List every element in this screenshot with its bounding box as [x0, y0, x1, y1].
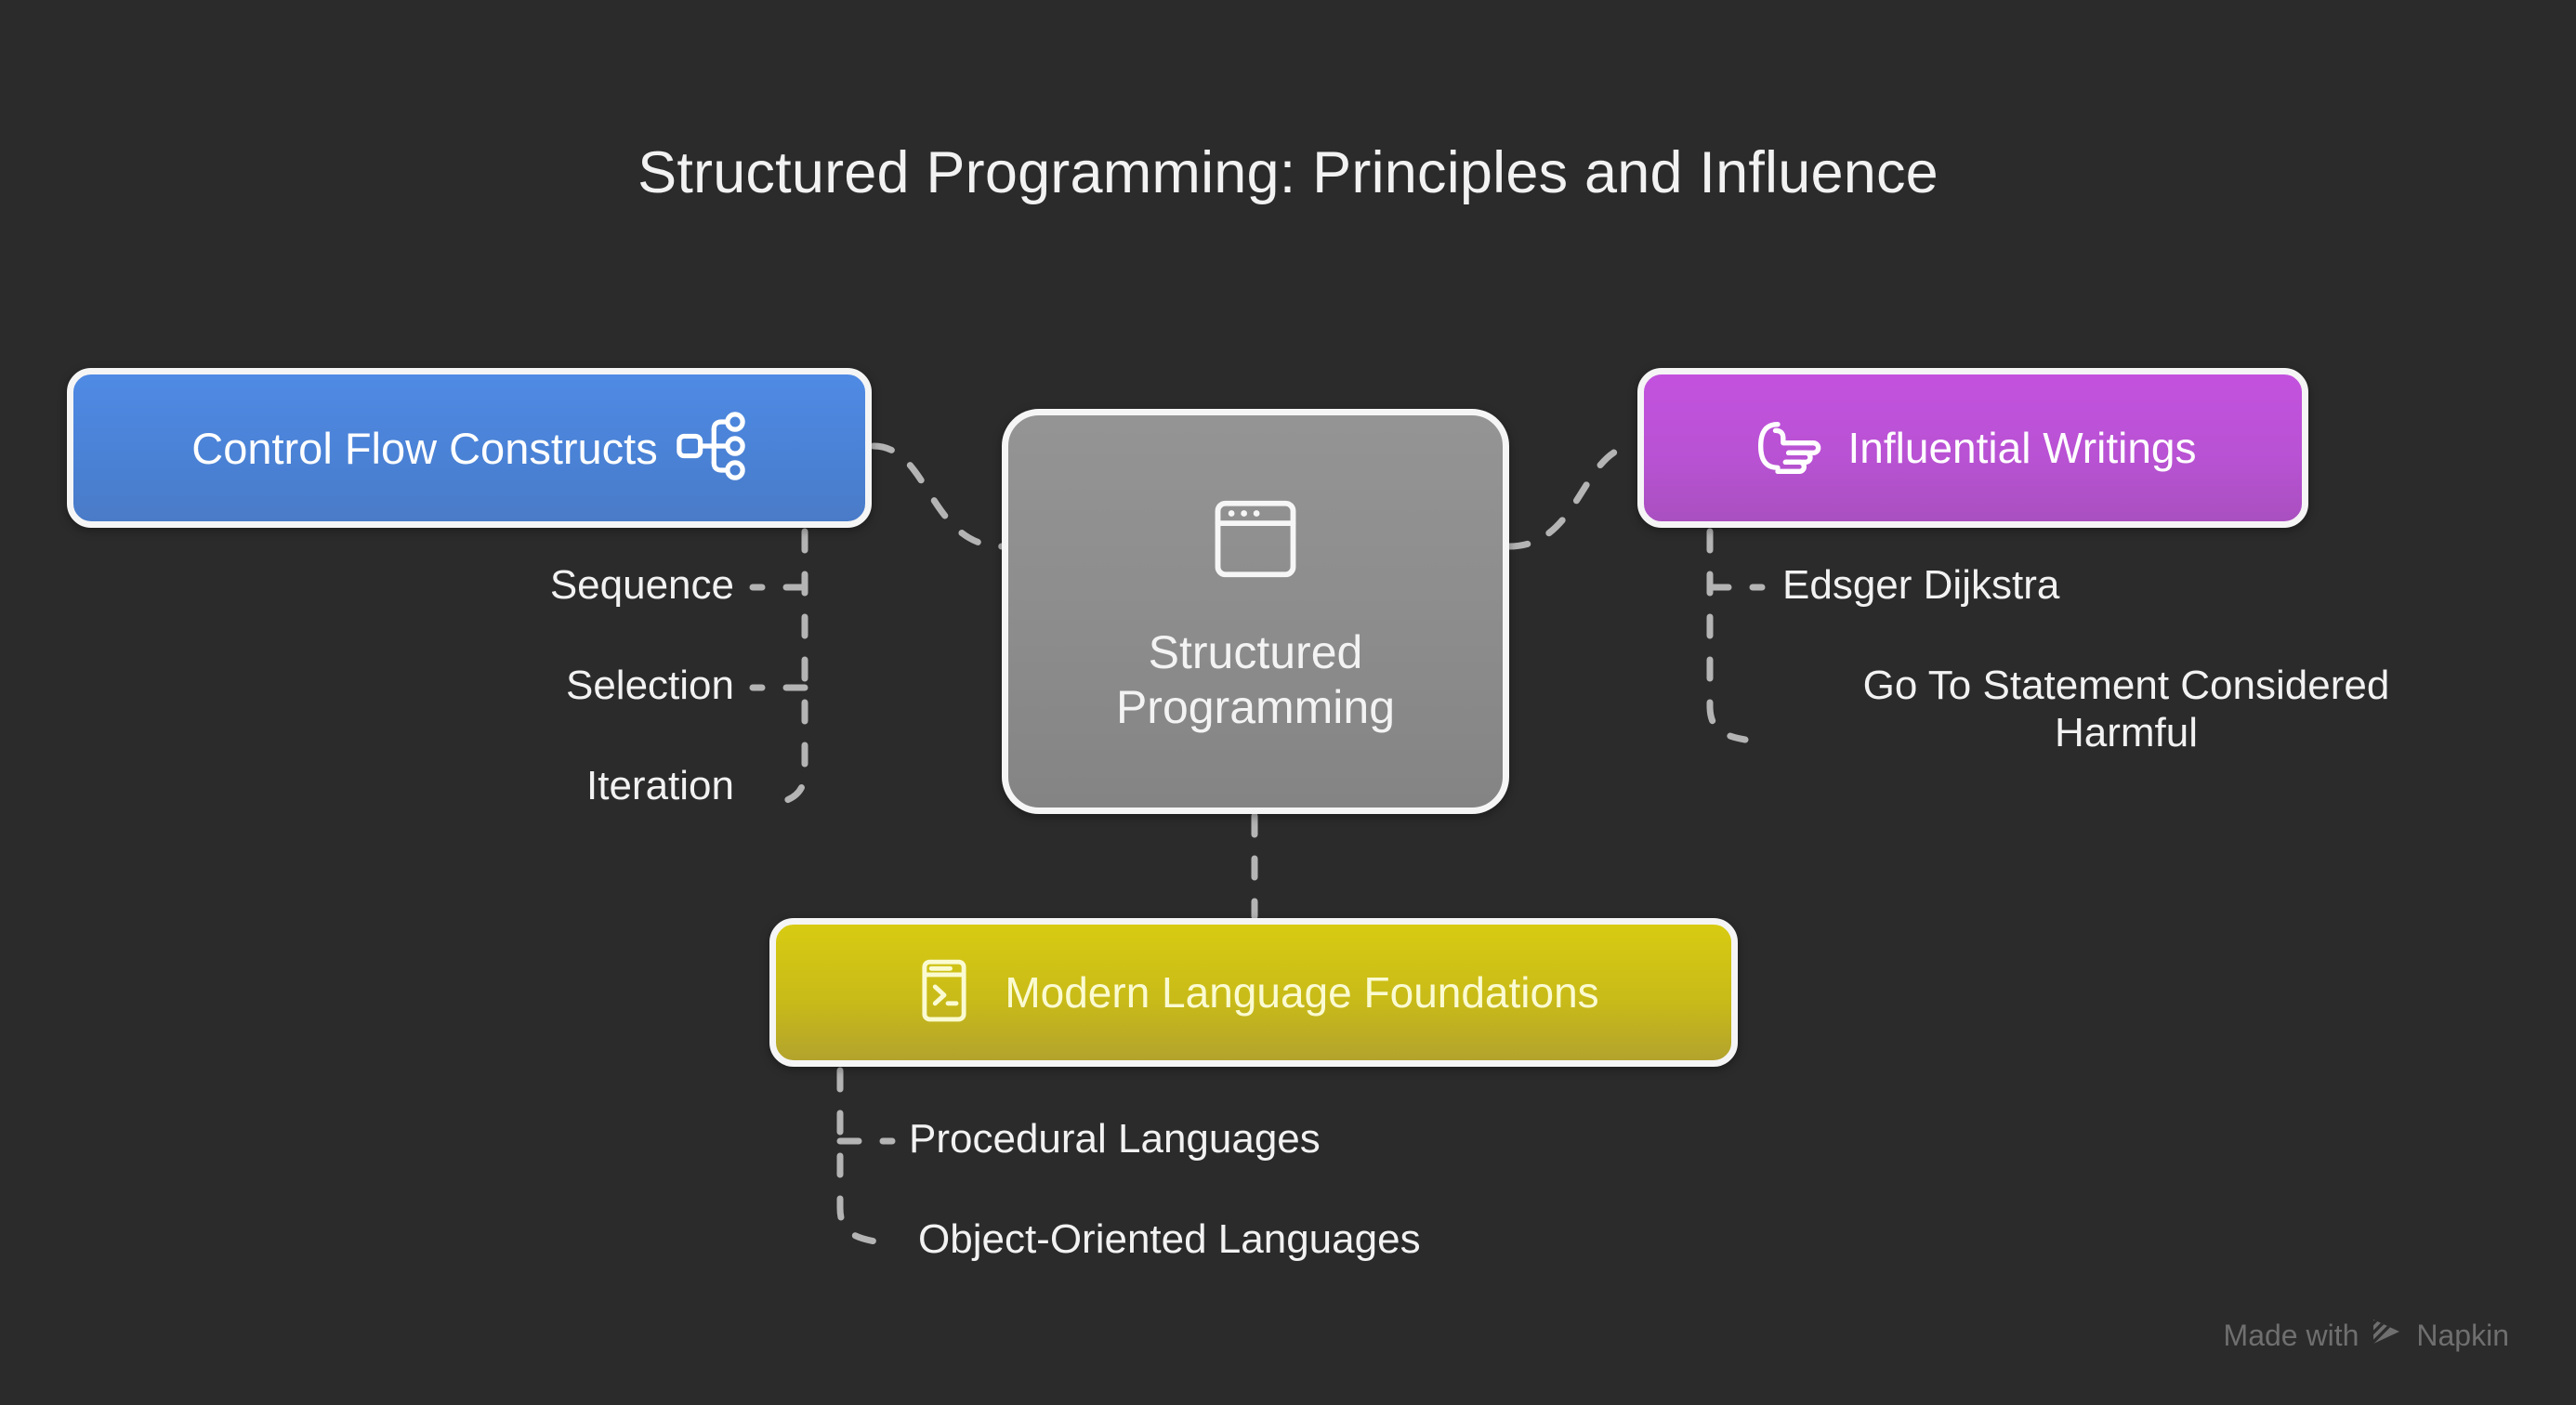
node-control-flow-label: Control Flow Constructs — [191, 423, 658, 474]
node-structured-programming[interactable]: Structured Programming — [1002, 409, 1509, 814]
subitem-modern-0: Procedural Languages — [909, 1115, 1708, 1162]
subitem-control-flow-0: Sequence — [279, 561, 734, 609]
watermark-prefix: Made with — [2224, 1319, 2359, 1353]
pointing-hand-icon — [1750, 409, 1824, 488]
subitem-control-flow-2: Iteration — [279, 762, 734, 809]
connector-modern-spine — [840, 1070, 875, 1241]
subitem-influential-1: Go To Statement Considered Harmful — [1764, 662, 2489, 756]
connector-center-to-influential — [1509, 446, 1636, 546]
node-structured-programming-label: Structured Programming — [1116, 625, 1395, 735]
napkin-logo-icon — [2372, 1318, 2403, 1353]
watermark: Made with Napkin — [2224, 1318, 2509, 1353]
watermark-brand: Napkin — [2416, 1319, 2509, 1353]
connector-control-flow-spine — [769, 532, 805, 805]
node-control-flow-constructs[interactable]: Control Flow Constructs — [67, 368, 872, 528]
node-influential-writings[interactable]: Influential Writings — [1637, 368, 2308, 528]
hierarchy-icon — [675, 410, 747, 487]
connector-control-flow-to-center — [874, 446, 1002, 546]
connector-influential-spine — [1710, 532, 1745, 740]
browser-window-icon — [1205, 489, 1306, 594]
page-title: Structured Programming: Principles and I… — [0, 139, 2576, 206]
subitem-control-flow-1: Selection — [279, 662, 734, 709]
terminal-icon — [908, 954, 980, 1031]
node-modern-language-foundations[interactable]: Modern Language Foundations — [769, 918, 1738, 1067]
subitem-influential-0: Edsger Dijkstra — [1782, 561, 2489, 609]
subitem-modern-1: Object-Oriented Languages — [918, 1215, 1755, 1263]
node-influential-label: Influential Writings — [1848, 423, 2197, 473]
node-modern-label: Modern Language Foundations — [1005, 967, 1598, 1018]
